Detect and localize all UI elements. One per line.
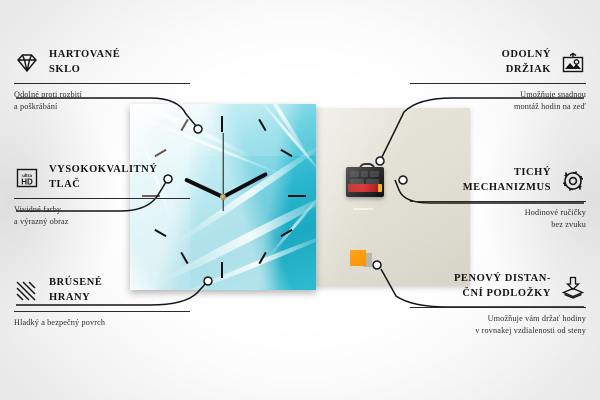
feature-desc-line1: Umožňuje snadnou — [410, 89, 586, 101]
feature-title-line1: BRÚSENÉ — [49, 276, 102, 291]
feature-desc-line2: a poškrábání — [14, 101, 190, 113]
feature-divider — [14, 83, 190, 84]
feature-title: BRÚSENÉ HRANY — [49, 276, 102, 306]
clock-center-cap — [220, 194, 226, 200]
feature-header: HARTOVANÉ SKLO — [14, 48, 190, 78]
feature-description: Hladký a bezpečný povrch — [14, 317, 190, 329]
feature-title: TICHÝ MECHANIZMUS — [463, 166, 551, 196]
feature-desc-line2: montáž hodin na zeď — [410, 101, 586, 113]
feature-title-line1: PENOVÝ DISTAN- — [454, 272, 551, 287]
mechanism-battery — [348, 184, 382, 192]
diamond-icon — [14, 51, 40, 75]
feature-title-line2: ČNÍ PODLOŽKY — [454, 287, 551, 302]
battery-label-stripe — [353, 208, 373, 210]
clock-tick — [221, 262, 223, 278]
feature-ground-edges: BRÚSENÉ HRANY Hladký a bezpečný povrch — [14, 276, 190, 329]
ultra-hd-badge-icon: ultra HD — [14, 166, 40, 190]
wall-hanger-frame-icon — [560, 51, 586, 75]
clock-mechanism — [346, 163, 384, 197]
feature-title: HARTOVANÉ SKLO — [49, 48, 120, 78]
feature-desc-line2: v rovnakej vzdialenosti od steny — [410, 325, 586, 337]
feature-title: VYSOKOKVALITNÝ TLAČ — [49, 163, 157, 193]
feature-divider — [14, 311, 190, 312]
feature-foam-spacer-pads: PENOVÝ DISTAN- ČNÍ PODLOŽKY Umožňuje vám… — [410, 272, 586, 337]
feature-divider — [410, 201, 586, 202]
feature-title-line1: ODOLNÝ — [502, 48, 551, 63]
feature-desc-line1: Hladký a bezpečný povrch — [14, 317, 190, 329]
feature-divider — [410, 307, 586, 308]
feature-title-line1: VYSOKOKVALITNÝ — [49, 163, 157, 178]
feature-hardened-glass: HARTOVANÉ SKLO Odolné proti rozbití a po… — [14, 48, 190, 113]
mechanism-detail — [366, 179, 379, 185]
feature-desc-line1: Umožňuje vám držať hodiny — [410, 313, 586, 325]
feather-streak — [173, 140, 316, 246]
feature-high-quality-print: ultra HD VYSOKOKVALITNÝ TLAČ Vividné far… — [14, 163, 190, 228]
mechanism-housing — [346, 167, 384, 197]
clock-tick — [288, 195, 306, 197]
feature-title-line2: TLAČ — [49, 178, 157, 193]
clock-tick — [221, 116, 223, 132]
mechanism-detail — [350, 179, 364, 185]
mechanism-detail — [361, 171, 368, 177]
feature-description: Odolné proti rozbití a poškrábání — [14, 89, 190, 114]
mechanism-detail — [350, 171, 359, 177]
feature-description: Hodinové ručičky bez zvuku — [410, 207, 586, 232]
foam-pad-shadow — [363, 253, 372, 267]
feature-header: PENOVÝ DISTAN- ČNÍ PODLOŽKY — [410, 272, 586, 302]
feature-header: ultra HD VYSOKOKVALITNÝ TLAČ — [14, 163, 190, 193]
feature-desc-line1: Vividné farby — [14, 204, 190, 216]
feature-header: TICHÝ MECHANIZMUS — [410, 166, 586, 196]
ground-edges-icon — [14, 279, 40, 303]
feature-title-line2: DRŽIAK — [502, 63, 551, 78]
feature-title-line1: TICHÝ — [463, 166, 551, 181]
feature-desc-line1: Odolné proti rozbití — [14, 89, 190, 101]
feature-divider — [410, 83, 586, 84]
feature-desc-line1: Hodinové ručičky — [410, 207, 586, 219]
feature-title-line2: HRANY — [49, 291, 102, 306]
mechanism-hanger-hook — [359, 163, 375, 173]
feature-title-line2: SKLO — [49, 63, 120, 78]
mechanism-detail — [370, 171, 379, 177]
feature-desc-line2: a výrazný obraz — [14, 216, 190, 228]
feature-title-line2: MECHANIZMUS — [463, 181, 551, 196]
infographic-stage: HARTOVANÉ SKLO Odolné proti rozbití a po… — [0, 0, 600, 400]
gear-icon — [560, 169, 586, 193]
feature-silent-mechanism: TICHÝ MECHANIZMUS Hodinové ručičky bez z… — [410, 166, 586, 231]
feature-title-line1: HARTOVANÉ — [49, 48, 120, 63]
feature-title: ODOLNÝ DRŽIAK — [502, 48, 551, 78]
foam-pad-arrow-icon — [560, 275, 586, 299]
feature-title: PENOVÝ DISTAN- ČNÍ PODLOŽKY — [454, 272, 551, 302]
feature-header: BRÚSENÉ HRANY — [14, 276, 190, 306]
feature-divider — [14, 198, 190, 199]
feature-durable-hanger: ODOLNÝ DRŽIAK Umožňuje snadnou montáž ho… — [410, 48, 586, 113]
feature-description: Umožňuje vám držať hodiny v rovnakej vzd… — [410, 313, 586, 338]
svg-text:HD: HD — [21, 177, 33, 186]
feature-header: ODOLNÝ DRŽIAK — [410, 48, 586, 78]
feature-description: Vividné farby a výrazný obraz — [14, 204, 190, 229]
feature-desc-line2: bez zvuku — [410, 219, 586, 231]
foam-spacer-pad — [350, 250, 366, 266]
feature-description: Umožňuje snadnou montáž hodin na zeď — [410, 89, 586, 114]
